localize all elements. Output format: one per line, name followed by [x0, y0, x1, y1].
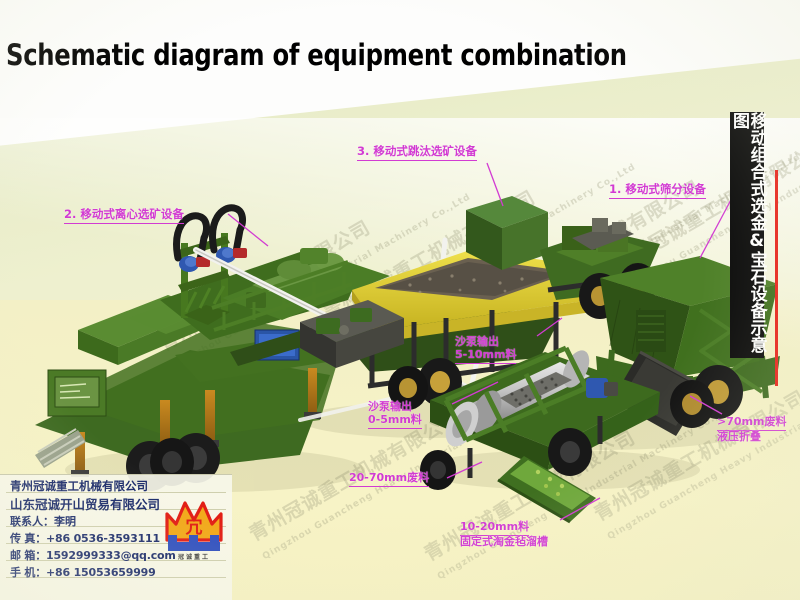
banner-red-rule [775, 170, 778, 386]
contact-mobile: 手 机：+86 15053659999 [10, 564, 156, 580]
contact-fax: 传 真：+86 0536-3593111 [10, 530, 160, 546]
vertical-banner: 移动组合式选金&宝石设备示意图 [730, 112, 764, 358]
label-pump-output-5-10: 沙泵输出 5-10mm料 [455, 336, 516, 364]
label-jig-equipment: 3. 移动式跳汰选矿设备 [357, 145, 477, 161]
label-waste-20-70: 20-70mm废料 [349, 472, 429, 487]
page-title: Schematic diagram of equipment combinati… [6, 38, 627, 72]
company-name-secondary: 山东冠诚开山贸易有限公司 [10, 494, 160, 513]
label-pump-output-0-5: 沙泵输出 0-5mm料 [368, 401, 422, 429]
company-logo: 冗 冠诚重工 [160, 498, 228, 562]
contact-person: 联系人：李明 [10, 513, 76, 529]
schematic-canvas: 青州冠诚重工机械有限公司 Qingzhou Guancheng Heavy In… [0, 0, 800, 600]
contact-email[interactable]: 邮 箱：1592999333@qq.com [10, 547, 176, 563]
company-name-primary: 青州冠诚重工机械有限公司 [10, 478, 148, 494]
label-sluice-10-20: 10-20mm料 固定式淘金毡溜槽 [460, 521, 548, 549]
logo-caption: 冠诚重工 [160, 552, 228, 561]
label-waste-over-70: >70mm废料 液压折叠 [717, 416, 786, 444]
vertical-banner-text: 移动组合式选金&宝石设备示意图 [729, 112, 764, 358]
label-screening-equipment: 1. 移动式筛分设备 [609, 183, 706, 199]
label-centrifugal-equipment: 2. 移动式离心选矿设备 [64, 208, 184, 224]
